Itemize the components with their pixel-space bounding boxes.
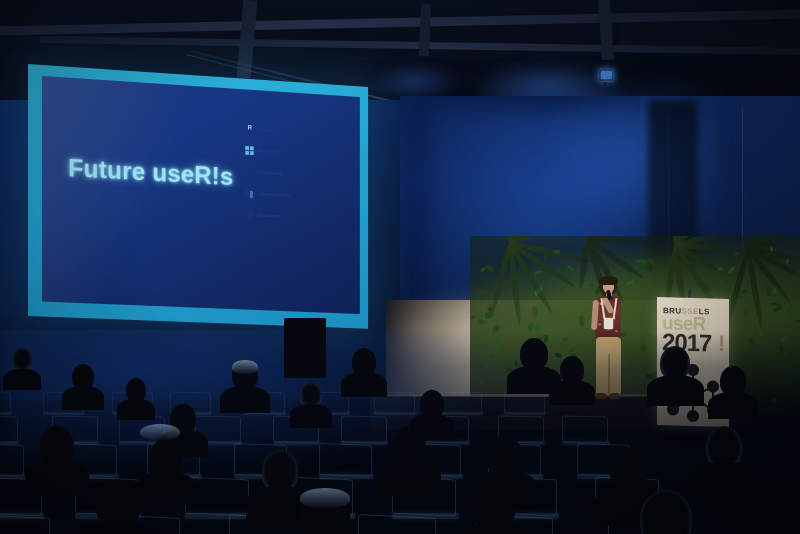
conference-badge [604, 318, 613, 329]
audience-shoulders [690, 462, 758, 500]
audience-shoulders [62, 386, 104, 409]
chair-seat [504, 412, 546, 415]
ceiling-blue-glow [370, 62, 460, 96]
audience-shoulders [290, 404, 332, 427]
leaf [783, 303, 789, 309]
conference-photo-scene: Future useR!s RStudio Microsoft consorti… [0, 0, 800, 534]
chair-seat [43, 412, 85, 415]
chair [0, 415, 18, 443]
leaf [579, 316, 585, 326]
chair [341, 415, 387, 443]
audience-shoulders [117, 399, 155, 421]
audience-shoulders [409, 414, 455, 439]
audience-shoulders [220, 386, 269, 413]
leaf [765, 286, 771, 296]
audience-head [640, 490, 692, 534]
chair-seat [441, 412, 483, 415]
chair [562, 415, 608, 443]
chair [441, 392, 482, 415]
audience-head-highlight [300, 488, 350, 508]
chair-seat [374, 412, 416, 415]
chair-seat [0, 412, 12, 415]
speaker-hair [599, 276, 618, 285]
audience-head-highlight [140, 424, 180, 440]
audience-shoulders [647, 375, 704, 406]
chair [0, 443, 25, 477]
chair [0, 392, 11, 415]
audience-shoulders [25, 460, 90, 496]
slide-surface: Future useR!s RStudio Microsoft consorti… [42, 76, 360, 314]
audience-shoulders [3, 369, 41, 391]
projection-screen: Future useR!s RStudio Microsoft consorti… [28, 64, 368, 329]
chair [504, 392, 545, 415]
audience-shoulders [136, 471, 197, 505]
stage-spotlight-icon [598, 68, 614, 82]
chair [319, 443, 372, 477]
audience-shoulders [377, 460, 442, 496]
audience-shoulders [708, 392, 757, 419]
audience-area [0, 330, 800, 534]
screen-sheen [42, 76, 360, 314]
chair [0, 514, 50, 534]
audience-shoulders [341, 372, 387, 397]
audience-shoulders [549, 380, 595, 405]
audience-head-highlight [232, 360, 258, 374]
stage-monitor-speaker [284, 318, 326, 378]
chair [358, 514, 436, 534]
leaf [471, 246, 473, 249]
